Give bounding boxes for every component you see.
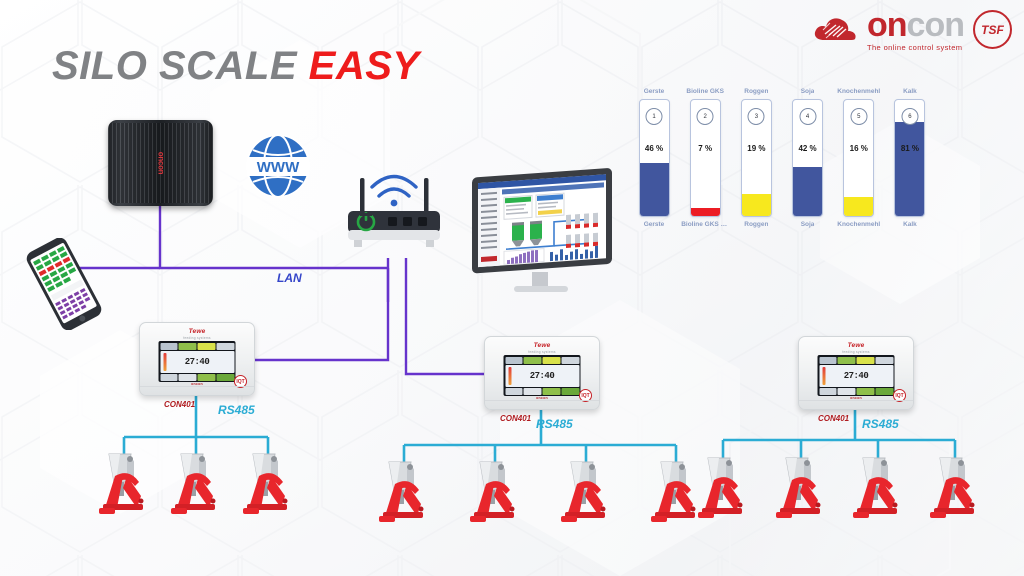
brand-logo: oncon The online control system TSF [812,8,1012,52]
silo-gauge-4[interactable]: Soja 4 42 % Soja [786,88,830,228]
display-top-row [160,343,234,350]
tsf-badge-label: TSF [981,23,1004,37]
display-value-area: 27:40 [160,351,234,373]
diagram-canvas: SILO SCALE EASY oncon The online control… [0,0,1024,576]
controller-brand-sub: feeding systems [183,336,211,340]
globe-icon: WWW [245,133,311,199]
silo-weighing-unit[interactable] [169,452,225,516]
display-value: 27:40 [530,371,555,381]
silo-tube: 4 42 % [792,99,823,217]
gateway-body: oncon [108,120,213,206]
silo-percent: 19 % [742,144,771,153]
display-value-area: 27:40 [819,365,893,387]
brand-on: on [867,6,907,44]
silo-bottom-label: Kalk [903,221,917,228]
silo-number: 4 [799,108,816,125]
oncon-gateway[interactable]: oncon [108,120,213,206]
display-level-bar [163,353,166,371]
silo-percent: 81 % [895,144,924,153]
display-bottom-row [819,388,893,395]
display-level-bar [508,367,511,385]
silo-number: 6 [901,108,918,125]
bus-label-1: RS485 [218,403,255,417]
tsf-badge: TSF [973,10,1012,49]
controller-display[interactable]: 27:40 [818,355,895,396]
silo-percent: 7 % [691,144,720,153]
brand-tagline: The online control system [867,44,962,52]
controller-body: Tewe feeding systems 27:40 [798,336,914,410]
controller-label-3: CON401 [818,414,849,423]
router-icon [338,158,450,258]
brand-wordmark: oncon [867,8,964,42]
silo-weighing-unit[interactable] [377,460,433,524]
silo-percent: 42 % [793,144,822,153]
smartphone-icon [22,238,106,330]
wifi-icon [372,177,416,197]
controller-brand: Tewe [848,342,865,349]
controller-display[interactable]: 27:40 [504,355,581,396]
silo-tube: 3 19 % [741,99,772,217]
silo-tube: 1 46 % [639,99,670,217]
silo-weighing-unit[interactable] [559,460,615,524]
silo-level-panel: Gerste 1 46 % Gerste Bioline GKS 2 7 % B… [632,88,932,253]
silo-bottom-label: Roggen [744,221,768,228]
controller-display[interactable]: 27:40 [159,341,236,382]
www-globe: WWW [245,133,311,199]
silo-weighing-unit[interactable] [774,456,830,520]
silo-top-label: Kalk [903,88,917,99]
globe-text: WWW [257,159,300,176]
silo-weighing-unit[interactable] [928,456,984,520]
display-bottom-row [160,374,234,381]
display-bottom-row [505,388,579,395]
silo-top-label: Roggen [744,88,768,99]
display-value: 27:40 [844,371,869,381]
bus-label-2: RS485 [536,417,573,431]
controller-label-2: CON401 [500,414,531,423]
controller-seam [799,400,913,401]
controller-brand: Tewe [189,328,206,335]
display-value-area: 27:40 [505,365,579,387]
silo-fill [844,197,873,216]
smartphone[interactable] [22,238,106,330]
silo-gauge-1[interactable]: Gerste 1 46 % Gerste [632,88,676,228]
silo-gauge-6[interactable]: Kalk 6 81 % Kalk [888,88,932,228]
gateway-logo: oncon [156,152,165,175]
brand-con: con [907,6,964,44]
controller-body: Tewe feeding systems 27:40 [484,336,600,410]
antenna-left [360,178,365,214]
silo-number: 3 [748,108,765,125]
bus-label-3: RS485 [862,417,899,431]
silo-weighing-unit[interactable] [241,452,297,516]
monitor-base [514,286,568,292]
silo-number: 1 [646,108,663,125]
silo-fill [640,163,669,216]
lan-label: LAN [277,271,302,285]
silo-number: 5 [850,108,867,125]
silo-tube: 2 7 % [690,99,721,217]
silo-weighing-unit[interactable] [97,452,153,516]
silo-bottom-label: Soja [801,221,815,228]
silo-gauge-5[interactable]: Knochenmehl 5 16 % Knochenmehl [837,88,881,228]
silo-fill [895,122,924,216]
desktop-monitor[interactable] [466,166,618,296]
silo-weighing-unit[interactable] [851,456,907,520]
controller-seam [140,386,254,387]
display-top-row [819,357,893,364]
silo-bottom-label: Bioline GKS M... [681,221,729,228]
controller-brand-sub: feeding systems [528,350,556,354]
wifi-router[interactable] [338,158,450,258]
controller-con401-3[interactable]: Tewe feeding systems 27:40 [798,336,912,408]
antenna-right [424,178,429,214]
silo-fill [793,167,822,216]
display-value: 27:40 [185,357,210,367]
cloud-icon [812,13,858,47]
silo-percent: 16 % [844,144,873,153]
silo-tube: 6 81 % [894,99,925,217]
controller-body: Tewe feeding systems 27:40 [139,322,255,396]
controller-brand-sub: feeding systems [842,350,870,354]
silo-bottom-label: Knochenmehl [837,221,880,228]
silo-number: 2 [697,108,714,125]
silo-top-label: Soja [801,88,815,99]
silo-fill [742,194,771,216]
controller-seam [485,400,599,401]
display-top-row [505,357,579,364]
silo-percent: 46 % [640,144,669,153]
silo-tube: 5 16 % [843,99,874,217]
controller-label-1: CON401 [164,400,195,409]
silo-gauge-3[interactable]: Roggen 3 19 % Roggen [734,88,778,228]
silo-top-label: Bioline GKS [686,88,724,99]
router-ports [388,217,427,226]
page-title-main: SILO SCALE [52,44,297,88]
monitor-icon [466,166,618,296]
silo-top-label: Gerste [644,88,665,99]
silo-bottom-label: Gerste [644,221,665,228]
page-title-accent: EASY [309,44,420,88]
silo-top-label: Knochenmehl [837,88,880,99]
silo-gauge-2[interactable]: Bioline GKS 2 7 % Bioline GKS M... [683,88,727,228]
page-title: SILO SCALE EASY [52,44,420,89]
silo-fill [691,208,720,216]
monitor-neck [532,272,548,288]
silo-weighing-unit[interactable] [468,460,524,524]
controller-con401-2[interactable]: Tewe feeding systems 27:40 [484,336,598,408]
display-level-bar [822,367,825,385]
controller-brand: Tewe [534,342,551,349]
silo-weighing-unit[interactable] [696,456,752,520]
controller-con401-1[interactable]: Tewe feeding systems 27:40 [139,322,253,394]
